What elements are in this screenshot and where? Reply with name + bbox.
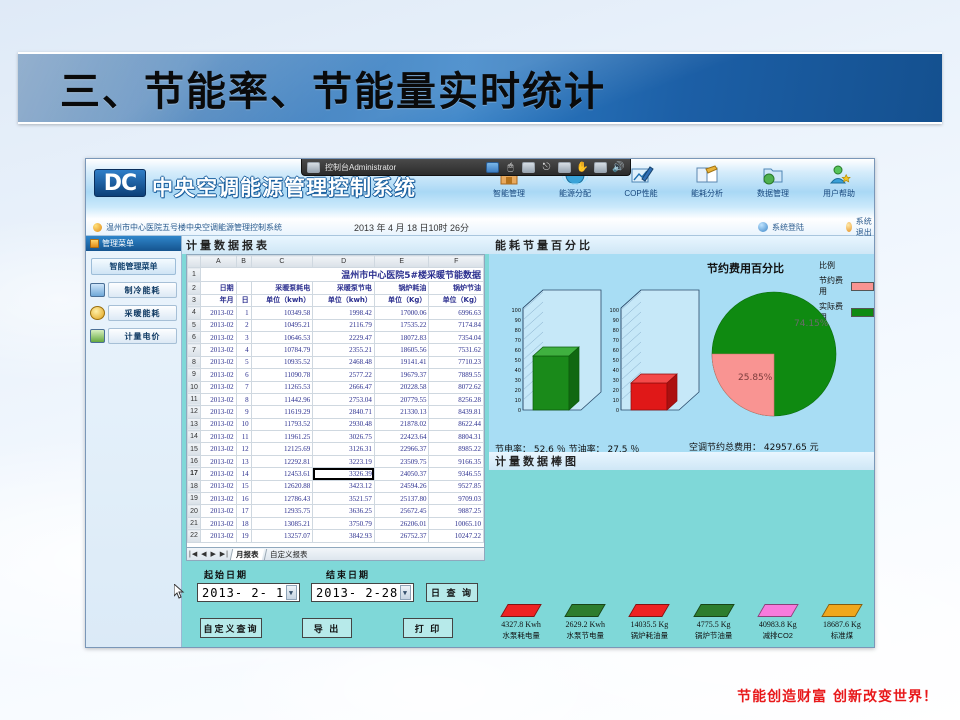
app-logo: DC — [94, 169, 146, 197]
report-table-body: 1温州市中心医院5#楼采暖节能数据2日期采暖泵耗电采暖泵节电锅炉耗油锅炉节油3年… — [188, 268, 484, 542]
cell-pump-consumption[interactable]: 11619.29 — [251, 406, 313, 418]
cell-boiler-oil-saving[interactable]: 8985.22 — [429, 443, 484, 455]
cell-year-month[interactable]: 2013-02 — [201, 319, 237, 331]
table-row[interactable]: 132013-021011793.522930.4821878.028622.4… — [188, 418, 484, 430]
status-strip: 温州市中心医院五号楼中央空调能源管理控制系统 2013 年 4 月 18 日10… — [86, 219, 874, 236]
table-row[interactable]: 202013-021712935.753636.2525672.459887.2… — [188, 505, 484, 517]
measure-bar-plate — [500, 604, 542, 617]
svg-text:50: 50 — [515, 358, 521, 364]
cell-day[interactable]: 12 — [236, 443, 251, 455]
cell-pump-consumption[interactable]: 11961.25 — [251, 431, 313, 443]
table-row[interactable]: 112013-02811442.962753.0420779.558256.28 — [188, 393, 484, 405]
measure-bar-plate — [564, 604, 606, 617]
chevron-down-icon[interactable]: ▼ — [286, 585, 297, 600]
cell-pump-consumption[interactable]: 12620.88 — [251, 480, 313, 492]
report-panel: 计量数据报表 A B C D E F — [182, 236, 489, 647]
cell-boiler-oil-saving[interactable]: 7889.55 — [429, 369, 484, 381]
cell-day[interactable]: 13 — [236, 455, 251, 467]
cell-pump-saving[interactable]: 2753.04 — [313, 393, 375, 405]
row-number[interactable]: 14 — [188, 431, 201, 443]
svg-text:10: 10 — [613, 398, 619, 404]
svg-text:60: 60 — [515, 348, 521, 354]
svg-text:0: 0 — [518, 408, 521, 414]
svg-text:70: 70 — [613, 338, 619, 344]
end-date-label: 结束日期 — [326, 568, 370, 581]
minimize-icon[interactable] — [594, 162, 607, 173]
column-header-cell[interactable]: 单位（kwh） — [313, 294, 375, 306]
folder-icon[interactable] — [522, 162, 535, 173]
sidebar-header-label: 管理菜单 — [102, 238, 134, 249]
cell-boiler-oil-saving[interactable]: 8256.28 — [429, 393, 484, 405]
cell-year-month[interactable]: 2013-02 — [201, 356, 237, 368]
table-row[interactable]: 162013-021312292.813223.1923509.759166.3… — [188, 455, 484, 467]
savings-pie-chart: 74.15% 25.85% — [694, 276, 874, 436]
svg-text:100: 100 — [609, 308, 619, 314]
cell-day[interactable]: 16 — [236, 493, 251, 505]
cell-year-month[interactable]: 2013-02 — [201, 505, 237, 517]
cell-pump-consumption[interactable]: 11442.96 — [251, 393, 313, 405]
sidebar-item-heating[interactable]: 采暖能耗 — [90, 305, 177, 321]
measure-bar-value: 14035.5 Kg — [617, 620, 681, 629]
measure-bar-value: 4327.8 Kwh — [489, 620, 553, 629]
column-letters-row: A B C D E F — [188, 256, 484, 268]
cell-pump-consumption[interactable]: 13085.21 — [251, 517, 313, 529]
cell-boiler-oil-saving[interactable]: 9346.55 — [429, 468, 484, 480]
svg-text:90: 90 — [515, 318, 521, 324]
cell-day[interactable]: 7 — [236, 381, 251, 393]
heating-icon — [90, 306, 105, 320]
table-row[interactable]: 182013-021512620.883423.1224594.269527.8… — [188, 480, 484, 492]
measure-bar-plate — [629, 604, 671, 617]
cell-pump-consumption[interactable]: 11090.78 — [251, 369, 313, 381]
cell-pump-saving[interactable]: 2116.79 — [313, 319, 375, 331]
sidebar-label-heating: 采暖能耗 — [108, 305, 177, 321]
mouse-cursor — [174, 584, 186, 600]
pie-value-actual: 74.15% — [794, 319, 829, 329]
nav-label: 用户帮助 — [823, 188, 855, 199]
row-number[interactable]: 6 — [188, 331, 201, 343]
app-body: 管理菜单 智能管理菜单 制冷能耗 采暖能耗 计量电价 计量数据报表 — [86, 236, 874, 647]
cell-boiler-oil-saving[interactable]: 6996.63 — [429, 307, 484, 319]
col-letter[interactable]: E — [374, 256, 429, 268]
start-date-value: 2013- 2- 1 — [202, 586, 284, 600]
row-number[interactable]: 2 — [188, 282, 201, 294]
svg-text:100: 100 — [511, 308, 521, 314]
nav-label: 能源分配 — [559, 188, 591, 199]
row-number[interactable]: 1 — [188, 268, 201, 282]
pen-chart-icon — [628, 163, 654, 187]
sidebar: 管理菜单 智能管理菜单 制冷能耗 采暖能耗 计量电价 — [86, 236, 182, 647]
slide-title-banner: 三、节能率、节能量实时统计 — [18, 52, 942, 124]
pie-chart-title: 节约费用百分比 — [707, 260, 784, 276]
row-number[interactable]: 18 — [188, 480, 201, 492]
measure-bar-value: 4775.5 Kg — [682, 620, 746, 629]
cell-year-month[interactable]: 2013-02 — [201, 480, 237, 492]
resize-icon[interactable] — [558, 162, 571, 173]
column-header-cell[interactable]: 锅炉节油 — [429, 282, 484, 294]
svg-text:30: 30 — [613, 378, 619, 384]
cell-boiler-oil[interactable]: 24594.26 — [374, 480, 429, 492]
cell-pump-saving[interactable]: 3842.93 — [313, 530, 375, 542]
cell-day[interactable]: 18 — [236, 517, 251, 529]
sheet-title-cell[interactable]: 温州市中心医院5#楼采暖节能数据 — [201, 268, 484, 282]
cell-day[interactable]: 8 — [236, 393, 251, 405]
row-number[interactable]: 22 — [188, 530, 201, 542]
cell-boiler-oil-saving[interactable]: 9166.35 — [429, 455, 484, 467]
cell-boiler-oil-saving[interactable]: 7710.23 — [429, 356, 484, 368]
sidebar-item-cooling[interactable]: 制冷能耗 — [90, 282, 177, 298]
nav-label: 能耗分析 — [691, 188, 723, 199]
svg-text:20: 20 — [515, 388, 521, 394]
cell-pump-saving[interactable]: 3026.75 — [313, 431, 375, 443]
row-number[interactable]: 21 — [188, 517, 201, 529]
cell-pump-consumption[interactable]: 12786.43 — [251, 493, 313, 505]
cell-boiler-oil[interactable]: 24050.37 — [374, 468, 429, 480]
svg-text:0: 0 — [616, 408, 619, 414]
right-column: 能耗节量百分比 — [489, 236, 874, 647]
row-number[interactable]: 10 — [188, 381, 201, 393]
table-row[interactable]: 152013-021212125.693126.3122966.378985.2… — [188, 443, 484, 455]
cell-pump-saving[interactable]: 3326.39 — [313, 468, 375, 480]
sidebar-label-cooling: 制冷能耗 — [108, 282, 177, 298]
cell-day[interactable]: 2 — [236, 319, 251, 331]
svg-text:40: 40 — [613, 368, 619, 374]
cell-year-month[interactable]: 2013-02 — [201, 307, 237, 319]
sidebar-header: 管理菜单 — [86, 236, 181, 251]
measure-bar-item: 40983.8 Kg减排CO2 — [746, 604, 810, 641]
row-number[interactable]: 13 — [188, 418, 201, 430]
table-row[interactable]: 172013-021412453.613326.3924050.379346.5… — [188, 468, 484, 480]
spreadsheet[interactable]: A B C D E F 1温州市中心医院5#楼采暖节能数据2日期采暖泵耗电采暖泵… — [186, 254, 485, 548]
sidebar-label-meter-price: 计量电价 — [108, 328, 177, 344]
cell-day[interactable]: 15 — [236, 480, 251, 492]
column-header-cell[interactable]: 日期 — [201, 282, 237, 294]
site-icon — [93, 223, 102, 232]
cell-pump-saving[interactable]: 2666.47 — [313, 381, 375, 393]
cell-pump-consumption[interactable]: 10935.52 — [251, 356, 313, 368]
svg-text:40: 40 — [515, 368, 521, 374]
cell-year-month[interactable]: 2013-02 — [201, 431, 237, 443]
book-icon — [90, 239, 99, 248]
cell-boiler-oil[interactable]: 25137.80 — [374, 493, 429, 505]
row-number[interactable]: 11 — [188, 393, 201, 405]
column-header-cell[interactable]: 锅炉耗油 — [374, 282, 429, 294]
cell-pump-saving[interactable]: 2930.48 — [313, 418, 375, 430]
sheet-tab-monthly[interactable]: 月报表 — [230, 549, 264, 560]
cell-pump-consumption[interactable]: 12292.81 — [251, 455, 313, 467]
cell-boiler-oil[interactable]: 25672.45 — [374, 505, 429, 517]
cell-pump-consumption[interactable]: 10646.53 — [251, 331, 313, 343]
sidebar-item-intelligent-menu[interactable]: 智能管理菜单 — [91, 258, 176, 275]
user-icon — [826, 163, 852, 187]
cell-year-month[interactable]: 2013-02 — [201, 493, 237, 505]
column-header-cell[interactable]: 采暖泵节电 — [313, 282, 375, 294]
cell-day[interactable]: 9 — [236, 406, 251, 418]
cell-day[interactable]: 4 — [236, 344, 251, 356]
cell-pump-saving[interactable]: 1998.42 — [313, 307, 375, 319]
export-button[interactable]: 导 出 — [302, 618, 352, 638]
cell-pump-saving[interactable]: 3126.31 — [313, 443, 375, 455]
row-number[interactable]: 16 — [188, 455, 201, 467]
custom-query-button[interactable]: 自定义查询 — [200, 618, 262, 638]
cell-pump-saving[interactable]: 3521.57 — [313, 493, 375, 505]
measure-bar-label: 水泵耗电量 — [489, 630, 553, 641]
measure-panel-title: 计量数据棒图 — [489, 452, 874, 470]
cell-pump-consumption[interactable]: 13257.07 — [251, 530, 313, 542]
row-number[interactable]: 19 — [188, 493, 201, 505]
nav-label: 数据管理 — [757, 188, 789, 199]
mouse-icon[interactable]: 🖱 — [504, 162, 517, 173]
table-header-row: 3年月日单位（kwh）单位（kwh）单位（Kg）单位（Kg） — [188, 294, 484, 306]
print-button[interactable]: 打 印 — [403, 618, 453, 638]
pie-value-saved: 25.85% — [738, 373, 773, 383]
svg-text:20: 20 — [613, 388, 619, 394]
cell-year-month[interactable]: 2013-02 — [201, 344, 237, 356]
measure-bar-label: 锅炉耗油量 — [617, 630, 681, 641]
svg-text:80: 80 — [613, 328, 619, 334]
hand-icon[interactable]: ✋ — [576, 162, 589, 173]
table-row[interactable]: 222013-021913257.073842.9326752.3710247.… — [188, 530, 484, 542]
cell-boiler-oil[interactable]: 17000.06 — [374, 307, 429, 319]
measure-bar-item: 4775.5 Kg锅炉节油量 — [682, 604, 746, 641]
row-number[interactable]: 3 — [188, 294, 201, 306]
table-row[interactable]: 102013-02711265.532666.4720228.588072.62 — [188, 381, 484, 393]
cell-boiler-oil[interactable]: 18605.56 — [374, 344, 429, 356]
row-number[interactable]: 15 — [188, 443, 201, 455]
cell-boiler-oil[interactable]: 19679.37 — [374, 369, 429, 381]
cell-pump-consumption[interactable]: 12125.69 — [251, 443, 313, 455]
nav-label: 智能管理 — [493, 188, 525, 199]
meter-price-icon — [90, 329, 105, 343]
day-query-button[interactable]: 日 查 询 — [426, 583, 478, 602]
row-number[interactable]: 7 — [188, 344, 201, 356]
measure-bar-label: 水泵节电量 — [553, 630, 617, 641]
pointer-icon[interactable]: ⎋ — [540, 162, 553, 173]
cell-boiler-oil[interactable]: 23509.75 — [374, 455, 429, 467]
start-date-label: 起始日期 — [204, 568, 248, 581]
measure-bar-value: 2629.2 Kwh — [553, 620, 617, 629]
table-row[interactable]: 52013-02210495.212116.7917535.227174.84 — [188, 319, 484, 331]
table-row: 1温州市中心医院5#楼采暖节能数据 — [188, 268, 484, 282]
login-icon — [758, 222, 768, 232]
cell-boiler-oil-saving[interactable]: 8072.62 — [429, 381, 484, 393]
table-row[interactable]: 192013-021612786.433521.5725137.809709.0… — [188, 493, 484, 505]
cell-boiler-oil-saving[interactable]: 9709.03 — [429, 493, 484, 505]
cell-boiler-oil-saving[interactable]: 9527.85 — [429, 480, 484, 492]
cell-pump-consumption[interactable]: 10784.79 — [251, 344, 313, 356]
end-date-value: 2013- 2-28 — [316, 586, 398, 600]
measure-bar-label: 标准煤 — [810, 630, 874, 641]
cell-year-month[interactable]: 2013-02 — [201, 381, 237, 393]
energy-charts: 01020 304050 607080 90100 — [489, 254, 874, 452]
svg-text:50: 50 — [613, 358, 619, 364]
cell-boiler-oil[interactable]: 20228.58 — [374, 381, 429, 393]
table-row[interactable]: 92013-02611090.782577.2219679.377889.55 — [188, 369, 484, 381]
measure-bar-item: 2629.2 Kwh水泵节电量 — [553, 604, 617, 641]
measure-bar-panel: 计量数据棒图 4327.8 Kwh水泵耗电量2629.2 Kwh水泵节电量140… — [489, 452, 874, 647]
column-header-cell[interactable] — [236, 282, 251, 294]
cell-boiler-oil-saving[interactable]: 7531.62 — [429, 344, 484, 356]
cell-pump-saving[interactable]: 3750.79 — [313, 517, 375, 529]
cell-pump-consumption[interactable]: 11793.52 — [251, 418, 313, 430]
nav-item-user-help[interactable]: 用户帮助 — [808, 163, 870, 199]
cell-boiler-oil[interactable]: 21878.02 — [374, 418, 429, 430]
cell-boiler-oil[interactable]: 26206.01 — [374, 517, 429, 529]
table-row[interactable]: 42013-02110349.581998.4217000.066996.63 — [188, 307, 484, 319]
cell-boiler-oil[interactable]: 17535.22 — [374, 319, 429, 331]
nav-item-data-management[interactable]: 数据管理 — [742, 163, 804, 199]
cell-boiler-oil[interactable]: 21330.13 — [374, 406, 429, 418]
end-date-input[interactable]: 2013- 2-28 ▼ — [311, 583, 414, 602]
row-number[interactable]: 5 — [188, 319, 201, 331]
cell-boiler-oil[interactable]: 22423.64 — [374, 431, 429, 443]
row-number[interactable]: 4 — [188, 307, 201, 319]
cell-day[interactable]: 5 — [236, 356, 251, 368]
cell-year-month[interactable]: 2013-02 — [201, 468, 237, 480]
column-header-cell[interactable]: 采暖泵耗电 — [251, 282, 313, 294]
cell-year-month[interactable]: 2013-02 — [201, 443, 237, 455]
cell-pump-consumption[interactable]: 12935.75 — [251, 505, 313, 517]
row-number[interactable]: 9 — [188, 369, 201, 381]
measure-bar-value: 40983.8 Kg — [746, 620, 810, 629]
cell-pump-saving[interactable]: 3223.19 — [313, 455, 375, 467]
system-login-button[interactable]: 系统登陆 — [758, 222, 804, 233]
cell-year-month[interactable]: 2013-02 — [201, 393, 237, 405]
cell-pump-saving[interactable]: 2468.48 — [313, 356, 375, 368]
col-letter[interactable]: D — [313, 256, 375, 268]
logout-label: 系统退出 — [856, 216, 874, 238]
cell-year-month[interactable]: 2013-02 — [201, 331, 237, 343]
cell-boiler-oil-saving[interactable]: 7354.04 — [429, 331, 484, 343]
row-number[interactable]: 17 — [188, 468, 201, 480]
cell-pump-saving[interactable]: 2355.21 — [313, 344, 375, 356]
speaker-icon[interactable]: 🔊 — [612, 162, 625, 173]
remote-desktop-title: 控制台Administrator — [325, 162, 396, 173]
table-row[interactable]: 122013-02911619.292840.7121330.138439.81 — [188, 406, 484, 418]
cell-year-month[interactable]: 2013-02 — [201, 406, 237, 418]
cooling-icon — [90, 283, 105, 297]
column-header-cell[interactable]: 单位（Kg） — [374, 294, 429, 306]
cell-boiler-oil-saving[interactable]: 8439.81 — [429, 406, 484, 418]
cell-day[interactable]: 1 — [236, 307, 251, 319]
sheet-tab-custom[interactable]: 自定义报表 — [263, 549, 312, 560]
row-number[interactable]: 20 — [188, 505, 201, 517]
cell-pump-consumption[interactable]: 11265.53 — [251, 381, 313, 393]
svg-text:10: 10 — [515, 398, 521, 404]
cell-day[interactable]: 6 — [236, 369, 251, 381]
report-panel-title: 计量数据报表 — [182, 236, 489, 254]
svg-text:80: 80 — [515, 328, 521, 334]
cell-boiler-oil-saving[interactable]: 10247.22 — [429, 530, 484, 542]
column-header-cell[interactable]: 年月 — [201, 294, 237, 306]
cell-year-month[interactable]: 2013-02 — [201, 530, 237, 542]
cell-boiler-oil-saving[interactable]: 8804.31 — [429, 431, 484, 443]
col-letter[interactable]: A — [201, 256, 237, 268]
energy-panel-title: 能耗节量百分比 — [489, 236, 874, 254]
cell-pump-saving[interactable]: 3636.25 — [313, 505, 375, 517]
cell-pump-consumption[interactable]: 12453.61 — [251, 468, 313, 480]
measure-bars-row: 4327.8 Kwh水泵耗电量2629.2 Kwh水泵节电量14035.5 Kg… — [489, 604, 874, 641]
table-row[interactable]: 72013-02410784.792355.2118605.567531.62 — [188, 344, 484, 356]
svg-text:60: 60 — [613, 348, 619, 354]
cell-boiler-oil[interactable]: 26752.37 — [374, 530, 429, 542]
cell-year-month[interactable]: 2013-02 — [201, 369, 237, 381]
column-header-cell[interactable]: 单位（Kg） — [429, 294, 484, 306]
page-title: 三、节能率、节能量实时统计 — [60, 59, 606, 117]
col-letter[interactable]: B — [236, 256, 251, 268]
table-row[interactable]: 142013-021111961.253026.7522423.648804.3… — [188, 431, 484, 443]
column-header-cell[interactable]: 单位（kwh） — [251, 294, 313, 306]
cell-pump-saving[interactable]: 2840.71 — [313, 406, 375, 418]
cell-boiler-oil-saving[interactable]: 8622.44 — [429, 418, 484, 430]
chevron-down-icon[interactable]: ▼ — [400, 585, 411, 600]
cell-boiler-oil[interactable]: 19141.41 — [374, 356, 429, 368]
cell-day[interactable]: 10 — [236, 418, 251, 430]
system-datetime: 2013 年 4 月 18 日10时 26分 — [354, 221, 469, 234]
start-date-input[interactable]: 2013- 2- 1 ▼ — [197, 583, 300, 602]
table-row[interactable]: 82013-02510935.522468.4819141.417710.23 — [188, 356, 484, 368]
application-screenshot: 控制台Administrator 🖱 ⎋ ✋ 🔊 DC 中央空调能源管理控制系统 — [85, 158, 875, 648]
measure-bar-plate — [757, 604, 799, 617]
remote-desktop-titlebar: 控制台Administrator 🖱 ⎋ ✋ 🔊 — [301, 159, 631, 176]
measure-bar-item: 14035.5 Kg锅炉耗油量 — [617, 604, 681, 641]
row-number[interactable]: 12 — [188, 406, 201, 418]
cell-pump-saving[interactable]: 3423.12 — [313, 480, 375, 492]
col-letter[interactable]: F — [429, 256, 484, 268]
measure-bar-item: 18687.6 Kg标准煤 — [810, 604, 874, 641]
column-header-cell[interactable]: 日 — [236, 294, 251, 306]
sheet-nav-buttons[interactable]: |◀ ◀ ▶ ▶| — [189, 550, 229, 558]
cell-year-month[interactable]: 2013-02 — [201, 418, 237, 430]
cell-day[interactable]: 17 — [236, 505, 251, 517]
energy-percentage-panel: 能耗节量百分比 — [489, 236, 874, 452]
cell-day[interactable]: 19 — [236, 530, 251, 542]
cell-day[interactable]: 11 — [236, 431, 251, 443]
svg-text:30: 30 — [515, 378, 521, 384]
nav-item-consumption-analysis[interactable]: 能耗分析 — [676, 163, 738, 199]
svg-text:70: 70 — [515, 338, 521, 344]
app-title: 中央空调能源管理控制系统 — [152, 172, 416, 202]
sidebar-item-meter-price[interactable]: 计量电价 — [90, 328, 177, 344]
logout-icon — [846, 222, 852, 232]
measure-bar-label: 减排CO2 — [746, 630, 810, 641]
row-number[interactable]: 8 — [188, 356, 201, 368]
cell-year-month[interactable]: 2013-02 — [201, 517, 237, 529]
cell-boiler-oil[interactable]: 20779.55 — [374, 393, 429, 405]
cell-boiler-oil-saving[interactable]: 7174.84 — [429, 319, 484, 331]
measure-bar-plate — [821, 604, 863, 617]
cell-pump-consumption[interactable]: 10495.21 — [251, 319, 313, 331]
cell-boiler-oil-saving[interactable]: 9887.25 — [429, 505, 484, 517]
table-row[interactable]: 62013-02310646.532229.4718072.837354.04 — [188, 331, 484, 343]
cell-pump-saving[interactable]: 2229.47 — [313, 331, 375, 343]
cell-day[interactable]: 3 — [236, 331, 251, 343]
cell-pump-consumption[interactable]: 10349.58 — [251, 307, 313, 319]
measure-bar-value: 18687.6 Kg — [810, 620, 874, 629]
monitor-icon[interactable] — [486, 162, 499, 173]
table-header-row: 2日期采暖泵耗电采暖泵节电锅炉耗油锅炉节油 — [188, 282, 484, 294]
table-row[interactable]: 212013-021813085.213750.7926206.0110065.… — [188, 517, 484, 529]
cell-pump-saving[interactable]: 2577.22 — [313, 369, 375, 381]
col-letter[interactable]: C — [251, 256, 313, 268]
cell-boiler-oil[interactable]: 18072.83 — [374, 331, 429, 343]
measure-bar-label: 锅炉节油量 — [682, 630, 746, 641]
cell-year-month[interactable]: 2013-02 — [201, 455, 237, 467]
cell-boiler-oil-saving[interactable]: 10065.10 — [429, 517, 484, 529]
cell-boiler-oil[interactable]: 22966.37 — [374, 443, 429, 455]
cell-day[interactable]: 14 — [236, 468, 251, 480]
system-logout-button[interactable]: 系统退出 — [846, 216, 874, 238]
